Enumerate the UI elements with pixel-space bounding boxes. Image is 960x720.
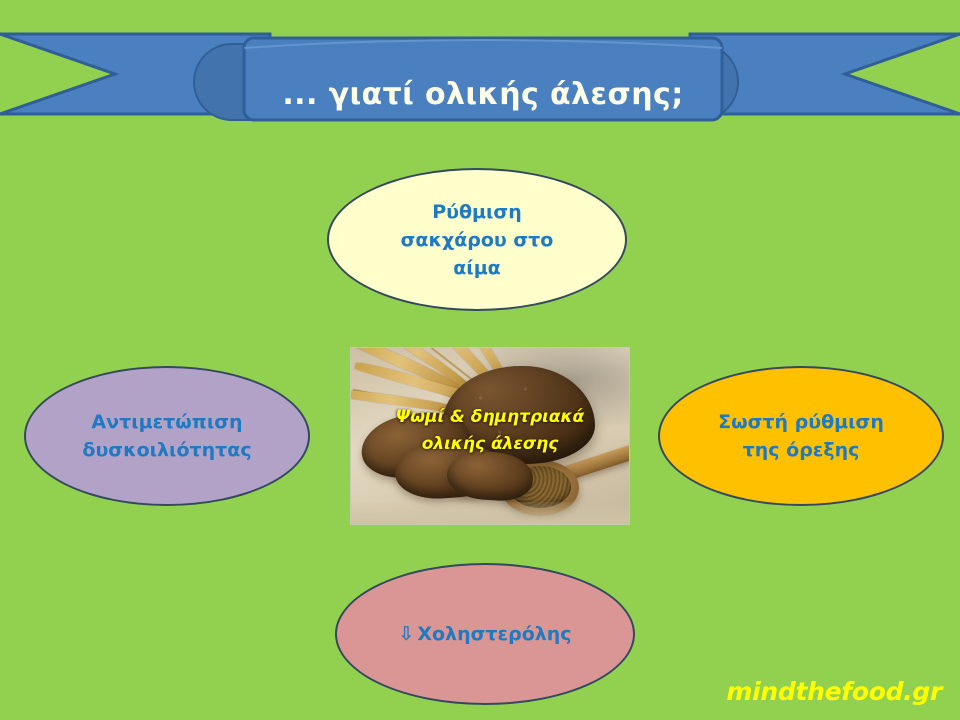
- whole-grain-bread-image: Ψωμί & δημητριακά ολικής άλεσης: [350, 347, 630, 525]
- bubble-appetite-label: Σωστή ρύθμιση της όρεξης: [704, 408, 898, 464]
- site-watermark: mindthefood.gr: [726, 677, 942, 706]
- image-caption: Ψωμί & δημητριακά ολικής άλεσης: [351, 404, 629, 458]
- arrow-down-icon: ⇩: [398, 623, 417, 645]
- bubble-cholesterol[interactable]: ⇩Χοληστερόλης: [335, 563, 635, 705]
- bubble-appetite[interactable]: Σωστή ρύθμιση της όρεξης: [658, 366, 944, 506]
- page-title: ... γιατί ολικής άλεσης;: [244, 78, 722, 112]
- bubble-cholesterol-content: ⇩Χοληστερόλης: [384, 620, 585, 648]
- ribbon-banner: ... γιατί ολικής άλεσης;: [0, 26, 960, 130]
- table-surface: [351, 502, 629, 524]
- bubble-blood-sugar[interactable]: Ρύθμιση σακχάρου στο αίμα: [327, 168, 627, 311]
- slide-canvas: ... γιατί ολικής άλεσης; Ρύθμιση σακχάρο…: [0, 0, 960, 720]
- bubble-constipation-label: Αντιμετώπιση δυσκοιλιότητας: [68, 408, 265, 464]
- bubble-cholesterol-label: Χοληστερόλης: [417, 623, 571, 645]
- bubble-constipation[interactable]: Αντιμετώπιση δυσκοιλιότητας: [24, 366, 310, 506]
- bubble-blood-sugar-label: Ρύθμιση σακχάρου στο αίμα: [387, 198, 568, 282]
